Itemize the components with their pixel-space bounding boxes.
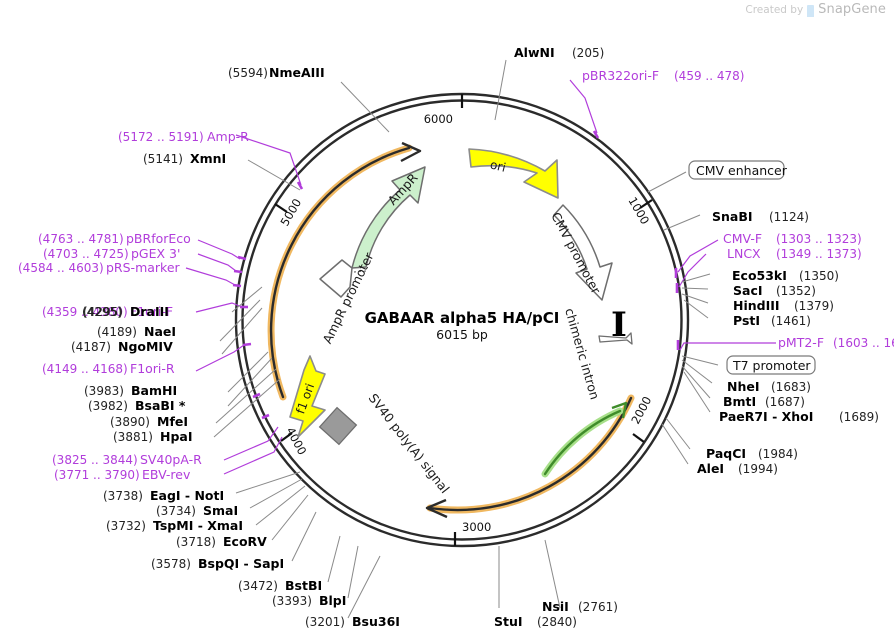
- smai-name: SmaI: [203, 503, 238, 518]
- label-lncx[interactable]: LNCX (1349 .. 1373): [727, 246, 862, 261]
- feature-sv40-polya: SV40 poly(A) signal: [320, 391, 453, 496]
- naei-name: NaeI: [144, 324, 176, 339]
- feature-chimeric-intron: I chimeric intron: [562, 305, 632, 401]
- label-bsabi[interactable]: (3982) BsaBI *: [88, 398, 186, 413]
- label-bsu36i[interactable]: (3201) Bsu36I: [305, 614, 400, 629]
- label-pgex3-name: pGEX 3': [131, 246, 180, 261]
- label-nmeaiii-pos: (5594): [228, 66, 268, 80]
- label-cmv-enhancer[interactable]: CMV enhancer: [689, 161, 788, 179]
- bsu36i-pos: (3201): [305, 615, 345, 629]
- saci-name: SacI: [733, 283, 763, 298]
- label-saci[interactable]: SacI (1352): [733, 283, 816, 298]
- label-eagi-noti[interactable]: (3738) EagI - NotI: [103, 488, 224, 503]
- hpai-pos: (3881): [113, 430, 153, 444]
- feature-label-chimeric-intron: chimeric intron: [562, 306, 602, 401]
- paqci-name: PaqCI: [706, 446, 746, 461]
- psti-name: PstI: [733, 313, 760, 328]
- sv40pa-r-pos: (3825 .. 3844): [52, 453, 138, 467]
- label-stui[interactable]: StuI (2840): [494, 614, 577, 629]
- paer7i-pos: (1689): [839, 410, 879, 424]
- pmt2-f-pos: (1603 .. 1622): [833, 336, 894, 350]
- label-pgex3-pos: (4703 .. 4725): [43, 247, 129, 261]
- cmv-f-pos: (1303 .. 1323): [776, 232, 862, 246]
- f1ori-r-name: F1ori-R: [130, 361, 175, 376]
- nhei-name: NheI: [727, 379, 760, 394]
- paqci-pos: (1984): [758, 447, 798, 461]
- label-paqci[interactable]: PaqCI (1984): [706, 446, 798, 461]
- label-mfei[interactable]: (3890) MfeI: [110, 414, 188, 429]
- ebv-rev-name: EBV-rev: [142, 467, 191, 482]
- label-pgex3[interactable]: (4703 .. 4725) pGEX 3': [43, 246, 180, 261]
- label-bstbi[interactable]: (3472) BstBI: [238, 578, 322, 593]
- bspqi-name: BspQI - SapI: [198, 556, 284, 571]
- label-group-bottom: (3472) BstBI (3393) BlpI (3201) Bsu36I S…: [238, 578, 618, 629]
- label-sv40pa-r[interactable]: (3825 .. 3844) SV40pA-R: [52, 452, 202, 467]
- bsabi-pos: (3982): [88, 399, 128, 413]
- tick-label-3000: 3000: [462, 520, 491, 534]
- label-ngomiv[interactable]: (4187) NgoMIV: [71, 339, 173, 354]
- label-group-top: AlwNI (205) (5594) NmeAIII pBR322ori-F (…: [228, 45, 744, 83]
- label-xmni-name: XmnI: [190, 151, 226, 166]
- label-amp-r[interactable]: (5172 .. 5191) Amp-R: [118, 129, 249, 144]
- alei-pos: (1994): [738, 462, 778, 476]
- hindiii-name: HindIII: [733, 298, 780, 313]
- tspmi-pos: (3732): [106, 519, 146, 533]
- bmti-name: BmtI: [723, 394, 756, 409]
- feature-cmv-promoter: CMV promoter: [548, 205, 612, 300]
- feature-ampr-promoter: AmpR promoter: [319, 249, 376, 346]
- t7-promoter-name: T7 promoter: [732, 358, 811, 373]
- tspmi-name: TspMI - XmaI: [153, 518, 243, 533]
- sv40pa-r-name: SV40pA-R: [140, 452, 202, 467]
- plasmid-diagram: 6000 1000 2000 3000 4000 5000: [0, 0, 894, 641]
- naei-pos: (4189): [97, 325, 137, 339]
- label-eco53ki[interactable]: Eco53kI (1350): [732, 268, 839, 283]
- tick-2000: [633, 434, 644, 442]
- label-nmeaiii[interactable]: (5594) NmeAIII: [228, 65, 325, 80]
- label-snabi[interactable]: SnaBI (1124): [712, 209, 809, 224]
- label-group-left: (5172 .. 5191) Amp-R (5141) XmnI (4763 .…: [18, 129, 249, 319]
- intron-marker-icon: I: [611, 305, 627, 345]
- label-f1ori-r[interactable]: (4149 .. 4168) F1ori-R: [42, 361, 175, 376]
- tick-label-1000: 1000: [625, 195, 652, 227]
- bspqi-pos: (3578): [151, 557, 191, 571]
- label-pbr322ori-f-pos: (459 .. 478): [674, 69, 744, 83]
- bamhi-name: BamHI: [131, 383, 177, 398]
- bstbi-name: BstBI: [285, 578, 322, 593]
- label-psti[interactable]: PstI (1461): [733, 313, 811, 328]
- smai-pos: (3734): [156, 504, 196, 518]
- bsabi-name: BsaBI *: [135, 398, 186, 413]
- lncx-name: LNCX: [727, 246, 761, 261]
- label-pbrforeco[interactable]: (4763 .. 4781) pBRforEco: [38, 231, 191, 246]
- label-cmv-f[interactable]: CMV-F (1303 .. 1323): [723, 231, 862, 246]
- label-ecorv[interactable]: (3718) EcoRV: [176, 534, 267, 549]
- pmt2-f-name: pMT2-F: [778, 335, 824, 350]
- draiii-pos: (4295): [83, 305, 123, 319]
- label-tspmi-xmai[interactable]: (3732) TspMI - XmaI: [106, 518, 243, 533]
- ebv-rev-pos: (3771 .. 3790): [54, 468, 140, 482]
- page-title: GABAAR alpha5 HA/pCI: [365, 309, 560, 327]
- feature-ori: ori: [469, 149, 558, 198]
- plasmid-map-page: Created by SnapGene 6000 1000 2000 3000: [0, 0, 894, 641]
- eagi-name: EagI - NotI: [150, 488, 224, 503]
- cmv-f-name: CMV-F: [723, 231, 762, 246]
- eco53ki-name: Eco53kI: [732, 268, 787, 283]
- label-t7-promoter[interactable]: T7 promoter: [727, 356, 815, 374]
- label-alwni-name: AlwNI: [514, 45, 555, 60]
- alei-name: AleI: [697, 461, 724, 476]
- bamhi-pos: (3983): [84, 384, 124, 398]
- bstbi-pos: (3472): [238, 579, 278, 593]
- hindiii-pos: (1379): [794, 299, 834, 313]
- label-nsii[interactable]: NsiI (2761): [542, 599, 618, 614]
- nhei-pos: (1683): [771, 380, 811, 394]
- label-hindiii[interactable]: HindIII (1379): [733, 298, 834, 313]
- snabi-pos: (1124): [769, 210, 809, 224]
- primer-ticks: [233, 131, 678, 418]
- hpai-name: HpaI: [160, 429, 193, 444]
- label-xmni[interactable]: (5141) XmnI: [143, 151, 226, 166]
- label-naei[interactable]: (4189) NaeI: [97, 324, 176, 339]
- label-prs-marker-name: pRS-marker: [106, 260, 181, 275]
- ecorv-pos: (3718): [176, 535, 216, 549]
- paer7i-name: PaeR7I - XhoI: [719, 409, 813, 424]
- f1ori-r-pos: (4149 .. 4168): [42, 362, 128, 376]
- label-alwni-pos: (205): [572, 46, 604, 60]
- mfei-name: MfeI: [157, 414, 188, 429]
- label-group-right: CMV enhancer SnaBI (1124) CMV-F (1303 ..…: [689, 161, 894, 476]
- label-pbrforeco-pos: (4763 .. 4781): [38, 232, 124, 246]
- psti-pos: (1461): [771, 314, 811, 328]
- label-pbr322ori-f-name: pBR322ori-F: [582, 68, 659, 83]
- tick-label-6000: 6000: [424, 112, 453, 126]
- label-pmt2-f[interactable]: pMT2-F (1603 .. 1622): [778, 335, 894, 350]
- eagi-pos: (3738): [103, 489, 143, 503]
- label-nhei[interactable]: NheI (1683): [727, 379, 811, 394]
- ngomiv-name: NgoMIV: [118, 339, 173, 354]
- label-nmeaiii-name: NmeAIII: [269, 65, 325, 80]
- feature-label-ampr-promoter: AmpR promoter: [319, 249, 376, 346]
- label-amp-r-name: Amp-R: [207, 129, 249, 144]
- ngomiv-pos: (4187): [71, 340, 111, 354]
- label-amp-r-pos: (5172 .. 5191): [118, 130, 204, 144]
- feature-label-sv40-polya: SV40 poly(A) signal: [366, 391, 453, 496]
- label-pbr322ori-f[interactable]: pBR322ori-F (459 .. 478): [582, 68, 744, 83]
- mfei-pos: (3890): [110, 415, 150, 429]
- label-alei[interactable]: AleI (1994): [697, 461, 778, 476]
- draiii-name: DraIII: [130, 304, 169, 319]
- label-smai[interactable]: (3734) SmaI: [156, 503, 238, 518]
- feature-label-ori: ori: [489, 157, 508, 174]
- label-hpai[interactable]: (3881) HpaI: [113, 429, 193, 444]
- blpi-name: BlpI: [319, 593, 346, 608]
- label-blpi[interactable]: (3393) BlpI: [272, 593, 346, 608]
- label-prs-marker[interactable]: (4584 .. 4603) pRS-marker: [18, 260, 181, 275]
- stui-pos: (2840): [537, 615, 577, 629]
- cmv-enhancer-name: CMV enhancer: [696, 163, 788, 178]
- label-ebv-rev[interactable]: (3771 .. 3790) EBV-rev: [54, 467, 191, 482]
- label-paer7i-xhoi[interactable]: PaeR7I - XhoI (1689): [719, 409, 879, 424]
- label-xmni-pos: (5141): [143, 152, 183, 166]
- label-prs-marker-pos: (4584 .. 4603): [18, 261, 104, 275]
- plasmid-size: 6015 bp: [436, 327, 488, 342]
- eco53ki-pos: (1350): [799, 269, 839, 283]
- nsii-name: NsiI: [542, 599, 569, 614]
- bmti-pos: (1687): [765, 395, 805, 409]
- ecorv-name: EcoRV: [223, 534, 267, 549]
- label-pbrforeco-name: pBRforEco: [126, 231, 191, 246]
- label-bmti[interactable]: BmtI (1687): [723, 394, 805, 409]
- blpi-pos: (3393): [272, 594, 312, 608]
- snabi-name: SnaBI: [712, 209, 753, 224]
- label-bspqi-sapi[interactable]: (3578) BspQI - SapI: [151, 556, 284, 571]
- bsu36i-name: Bsu36I: [352, 614, 400, 629]
- label-bamhi[interactable]: (3983) BamHI: [84, 383, 177, 398]
- lncx-pos: (1349 .. 1373): [776, 247, 862, 261]
- stui-name: StuI: [494, 614, 523, 629]
- nsii-pos: (2761): [578, 600, 618, 614]
- saci-pos: (1352): [776, 284, 816, 298]
- label-alwni[interactable]: AlwNI (205): [514, 45, 604, 60]
